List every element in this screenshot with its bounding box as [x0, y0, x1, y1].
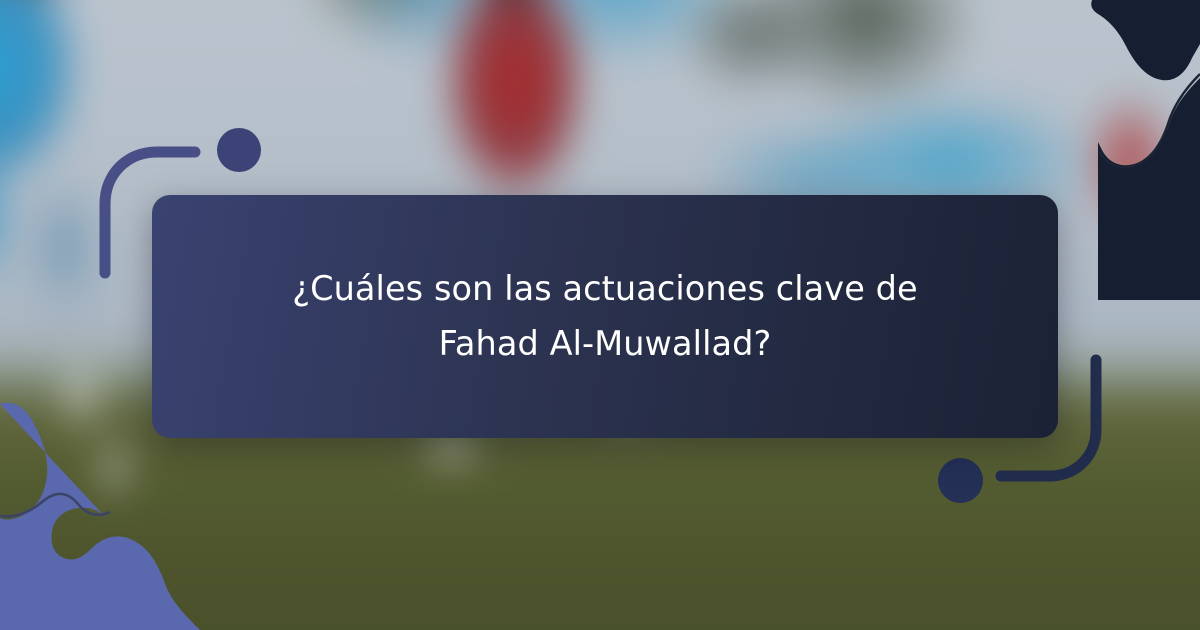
question-card: ¿Cuáles son las actuaciones clave de Fah…: [152, 195, 1058, 438]
question-text: ¿Cuáles son las actuaciones clave de Fah…: [260, 262, 950, 371]
dot-top-left: [217, 128, 261, 172]
dot-bottom-right: [938, 458, 983, 503]
question-card-banner: ¿Cuáles son las actuaciones clave de Fah…: [0, 0, 1200, 630]
